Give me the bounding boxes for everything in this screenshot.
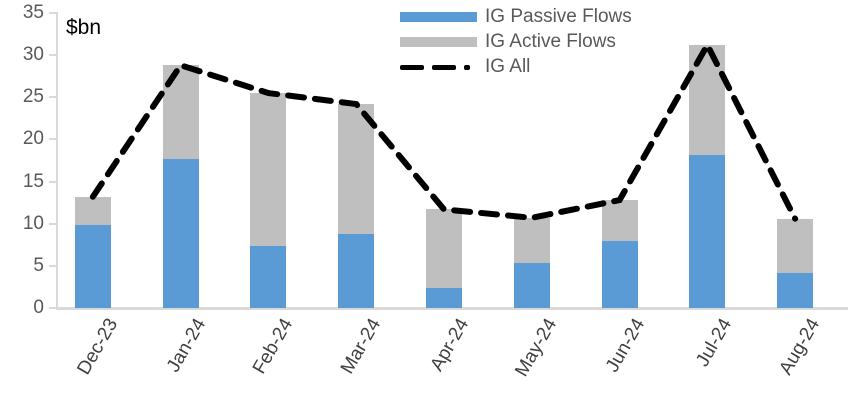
legend-item-active[interactable]: IG Active Flows xyxy=(400,29,700,54)
x-axis-label-jul-24: Jul-24 xyxy=(692,315,737,371)
x-axis-label-may-24: May-24 xyxy=(511,315,562,381)
legend-label-active: IG Active Flows xyxy=(485,32,616,51)
x-axis-label-jun-24: Jun-24 xyxy=(601,315,649,376)
y-axis-tick-label: 35 xyxy=(4,3,44,22)
legend-swatch-passive-icon xyxy=(400,12,477,22)
x-axis-label-mar-24: Mar-24 xyxy=(337,315,386,378)
y-axis-tick xyxy=(49,181,56,183)
y-axis-tick-label: 0 xyxy=(4,298,44,317)
y-axis-tick-label: 15 xyxy=(4,172,44,191)
x-axis-label-jan-24: Jan-24 xyxy=(163,315,211,376)
legend: IG Passive Flows IG Active Flows IG All xyxy=(400,4,700,79)
legend-label-passive: IG Passive Flows xyxy=(485,7,632,26)
y-axis-tick-label: 30 xyxy=(4,45,44,64)
legend-label-all: IG All xyxy=(485,57,530,76)
x-axis-label-feb-24: Feb-24 xyxy=(249,315,298,378)
legend-item-passive[interactable]: IG Passive Flows xyxy=(400,4,700,29)
legend-swatch-active-icon xyxy=(400,37,477,47)
y-axis-tick xyxy=(49,307,56,309)
y-axis-tick xyxy=(49,223,56,225)
x-axis-label-dec-23: Dec-23 xyxy=(73,315,123,379)
legend-dashed-line-icon xyxy=(400,61,477,73)
stacked-bar-chart: 05101520253035 Dec-23Jan-24Feb-24Mar-24A… xyxy=(0,0,852,417)
x-axis-label-apr-24: Apr-24 xyxy=(426,315,474,375)
x-axis-label-aug-24: Aug-24 xyxy=(775,315,825,379)
y-axis-tick-label: 20 xyxy=(4,129,44,148)
y-axis-tick xyxy=(49,138,56,140)
y-axis-tick-label: 10 xyxy=(4,214,44,233)
y-axis-tick xyxy=(49,12,56,14)
legend-item-all[interactable]: IG All xyxy=(400,54,700,79)
y-axis-tick xyxy=(49,54,56,56)
y-axis-tick-label: 5 xyxy=(4,256,44,275)
y-axis-tick-label: 25 xyxy=(4,87,44,106)
y-axis-tick xyxy=(49,265,56,267)
y-axis-tick xyxy=(49,96,56,98)
